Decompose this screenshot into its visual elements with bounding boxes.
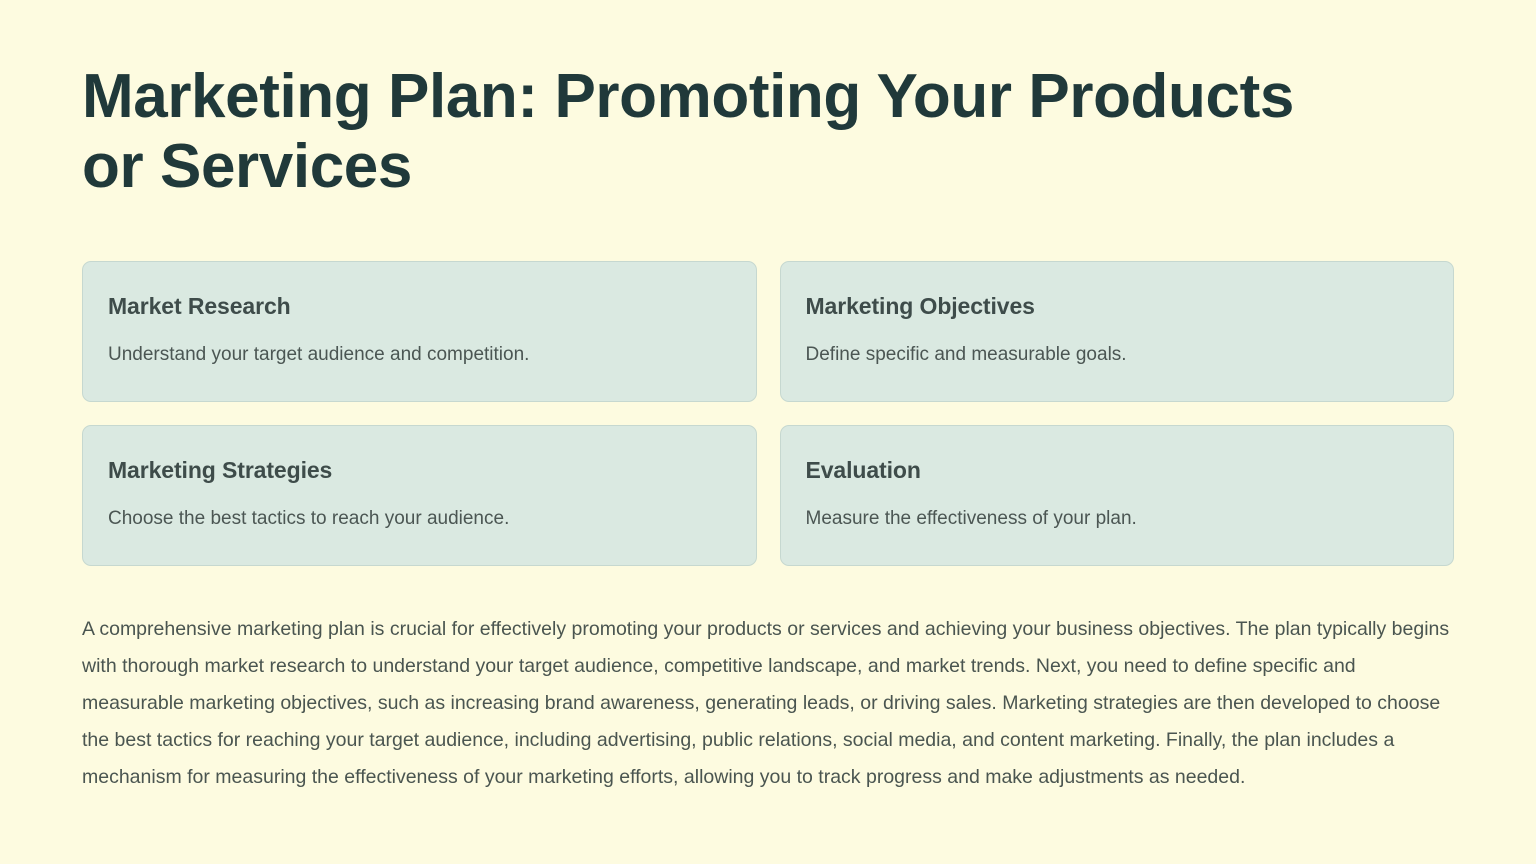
page-title: Marketing Plan: Promoting Your Products … — [82, 0, 1342, 202]
body-paragraph: A comprehensive marketing plan is crucia… — [82, 611, 1454, 796]
card-market-research[interactable]: Market Research Understand your target a… — [82, 261, 757, 402]
card-title: Marketing Strategies — [108, 456, 731, 484]
card-evaluation[interactable]: Evaluation Measure the effectiveness of … — [780, 425, 1455, 566]
card-description: Choose the best tactics to reach your au… — [108, 507, 731, 531]
feature-card-grid: Market Research Understand your target a… — [82, 261, 1454, 566]
card-title: Marketing Objectives — [806, 292, 1429, 320]
card-description: Define specific and measurable goals. — [806, 343, 1429, 367]
card-marketing-objectives[interactable]: Marketing Objectives Define specific and… — [780, 261, 1455, 402]
card-marketing-strategies[interactable]: Marketing Strategies Choose the best tac… — [82, 425, 757, 566]
card-description: Measure the effectiveness of your plan. — [806, 507, 1429, 531]
card-title: Market Research — [108, 292, 731, 320]
card-description: Understand your target audience and comp… — [108, 343, 731, 367]
card-title: Evaluation — [806, 456, 1429, 484]
slide-canvas: Marketing Plan: Promoting Your Products … — [0, 0, 1536, 864]
